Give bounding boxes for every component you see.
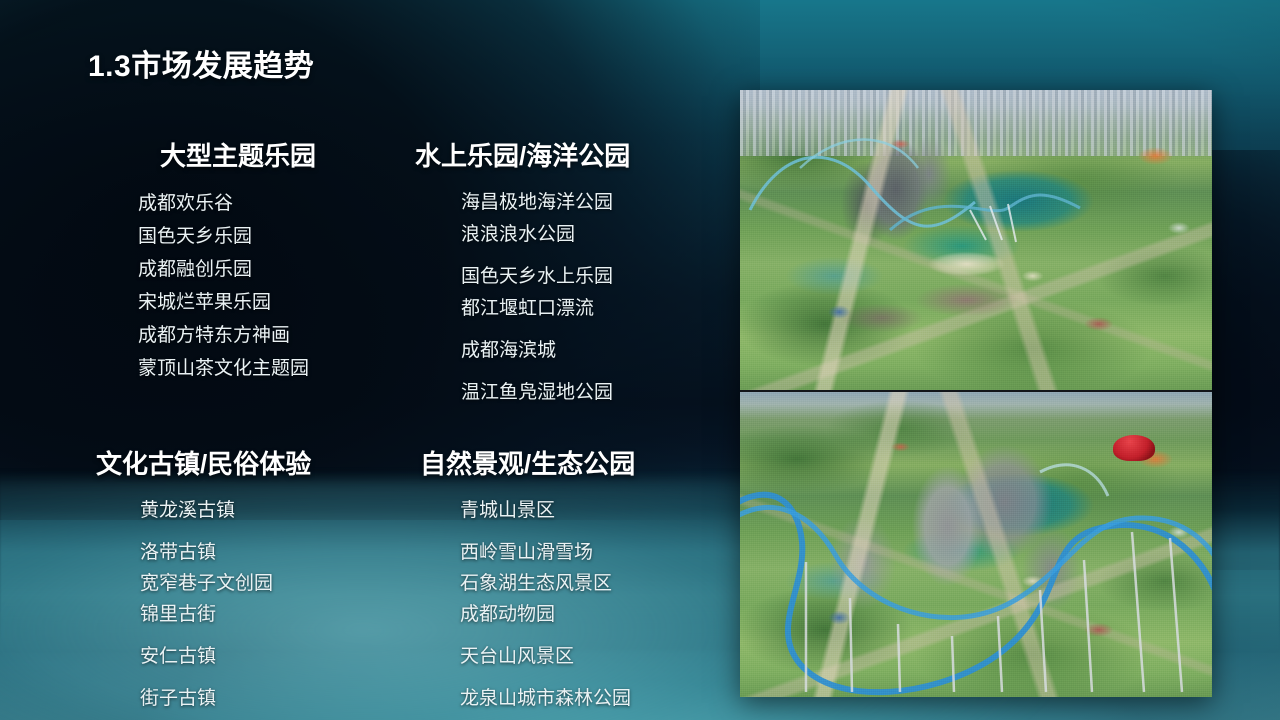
list-item: 龙泉山城市森林公园	[460, 683, 635, 714]
list-item: 石象湖生态风景区	[460, 568, 635, 599]
list-item: 温江鱼凫湿地公园	[461, 377, 630, 409]
list-item: 浪浪浪水公园	[461, 219, 630, 251]
list-item: 安仁古镇	[140, 641, 311, 672]
list-nature: 青城山景区 西岭雪山滑雪场 石象湖生态风景区 成都动物园 天台山风景区 龙泉山城…	[420, 495, 635, 714]
list-item: 成都方特东方神画	[138, 319, 338, 352]
list-item: 蒙顶山茶文化主题园	[138, 352, 338, 385]
list-item: 国色天乡乐园	[138, 220, 338, 253]
list-item: 宋城烂苹果乐园	[138, 286, 338, 319]
column-heading-ancient-towns: 文化古镇/民俗体验	[96, 444, 311, 481]
slide-canvas: 1.3市场发展趋势 大型主题乐园 成都欢乐谷 国色天乡乐园 成都融创乐园 宋城烂…	[0, 0, 1280, 720]
list-item: 青城山景区	[460, 495, 635, 526]
column-water-parks: 水上乐园/海洋公园 海昌极地海洋公园 浪浪浪水公园 国色天乡水上乐园 都江堰虹口…	[415, 136, 630, 409]
list-water-parks: 海昌极地海洋公园 浪浪浪水公园 国色天乡水上乐园 都江堰虹口漂流 成都海滨城 温…	[415, 187, 630, 409]
list-item: 黄龙溪古镇	[140, 495, 311, 526]
list-theme-parks: 成都欢乐谷 国色天乡乐园 成都融创乐园 宋城烂苹果乐园 成都方特东方神画 蒙顶山…	[138, 187, 338, 385]
column-heading-theme-parks: 大型主题乐园	[138, 136, 338, 173]
list-item: 成都融创乐园	[138, 253, 338, 286]
photo-aerial-theme-park-overview	[740, 90, 1212, 390]
photo-layer-grain	[740, 392, 1212, 697]
list-item: 宽窄巷子文创园	[140, 568, 311, 599]
list-item: 西岭雪山滑雪场	[460, 537, 635, 568]
list-item: 街子古镇	[140, 683, 311, 714]
list-item: 洛带古镇	[140, 537, 311, 568]
list-item: 锦里古街	[140, 599, 311, 630]
column-heading-nature: 自然景观/生态公园	[420, 444, 635, 481]
list-item: 国色天乡水上乐园	[461, 261, 630, 293]
list-ancient-towns: 黄龙溪古镇 洛带古镇 宽窄巷子文创园 锦里古街 安仁古镇 街子古镇	[96, 495, 311, 714]
page-title: 1.3市场发展趋势	[88, 41, 314, 85]
list-item: 成都海滨城	[461, 335, 630, 367]
photo-stack	[740, 90, 1212, 697]
column-theme-parks: 大型主题乐园 成都欢乐谷 国色天乡乐园 成都融创乐园 宋城烂苹果乐园 成都方特东…	[138, 136, 338, 385]
list-item: 海昌极地海洋公园	[461, 187, 630, 219]
list-item: 成都欢乐谷	[138, 187, 338, 220]
photo-aerial-rockwork-coaster	[740, 392, 1212, 697]
column-nature: 自然景观/生态公园 青城山景区 西岭雪山滑雪场 石象湖生态风景区 成都动物园 天…	[420, 444, 635, 714]
column-ancient-towns: 文化古镇/民俗体验 黄龙溪古镇 洛带古镇 宽窄巷子文创园 锦里古街 安仁古镇 街…	[96, 444, 311, 714]
photo-layer-grain	[740, 90, 1212, 390]
list-item: 天台山风景区	[460, 641, 635, 672]
photo-divider	[740, 390, 1212, 392]
list-item: 成都动物园	[460, 599, 635, 630]
list-item: 都江堰虹口漂流	[461, 293, 630, 325]
column-heading-water-parks: 水上乐园/海洋公园	[415, 136, 630, 173]
